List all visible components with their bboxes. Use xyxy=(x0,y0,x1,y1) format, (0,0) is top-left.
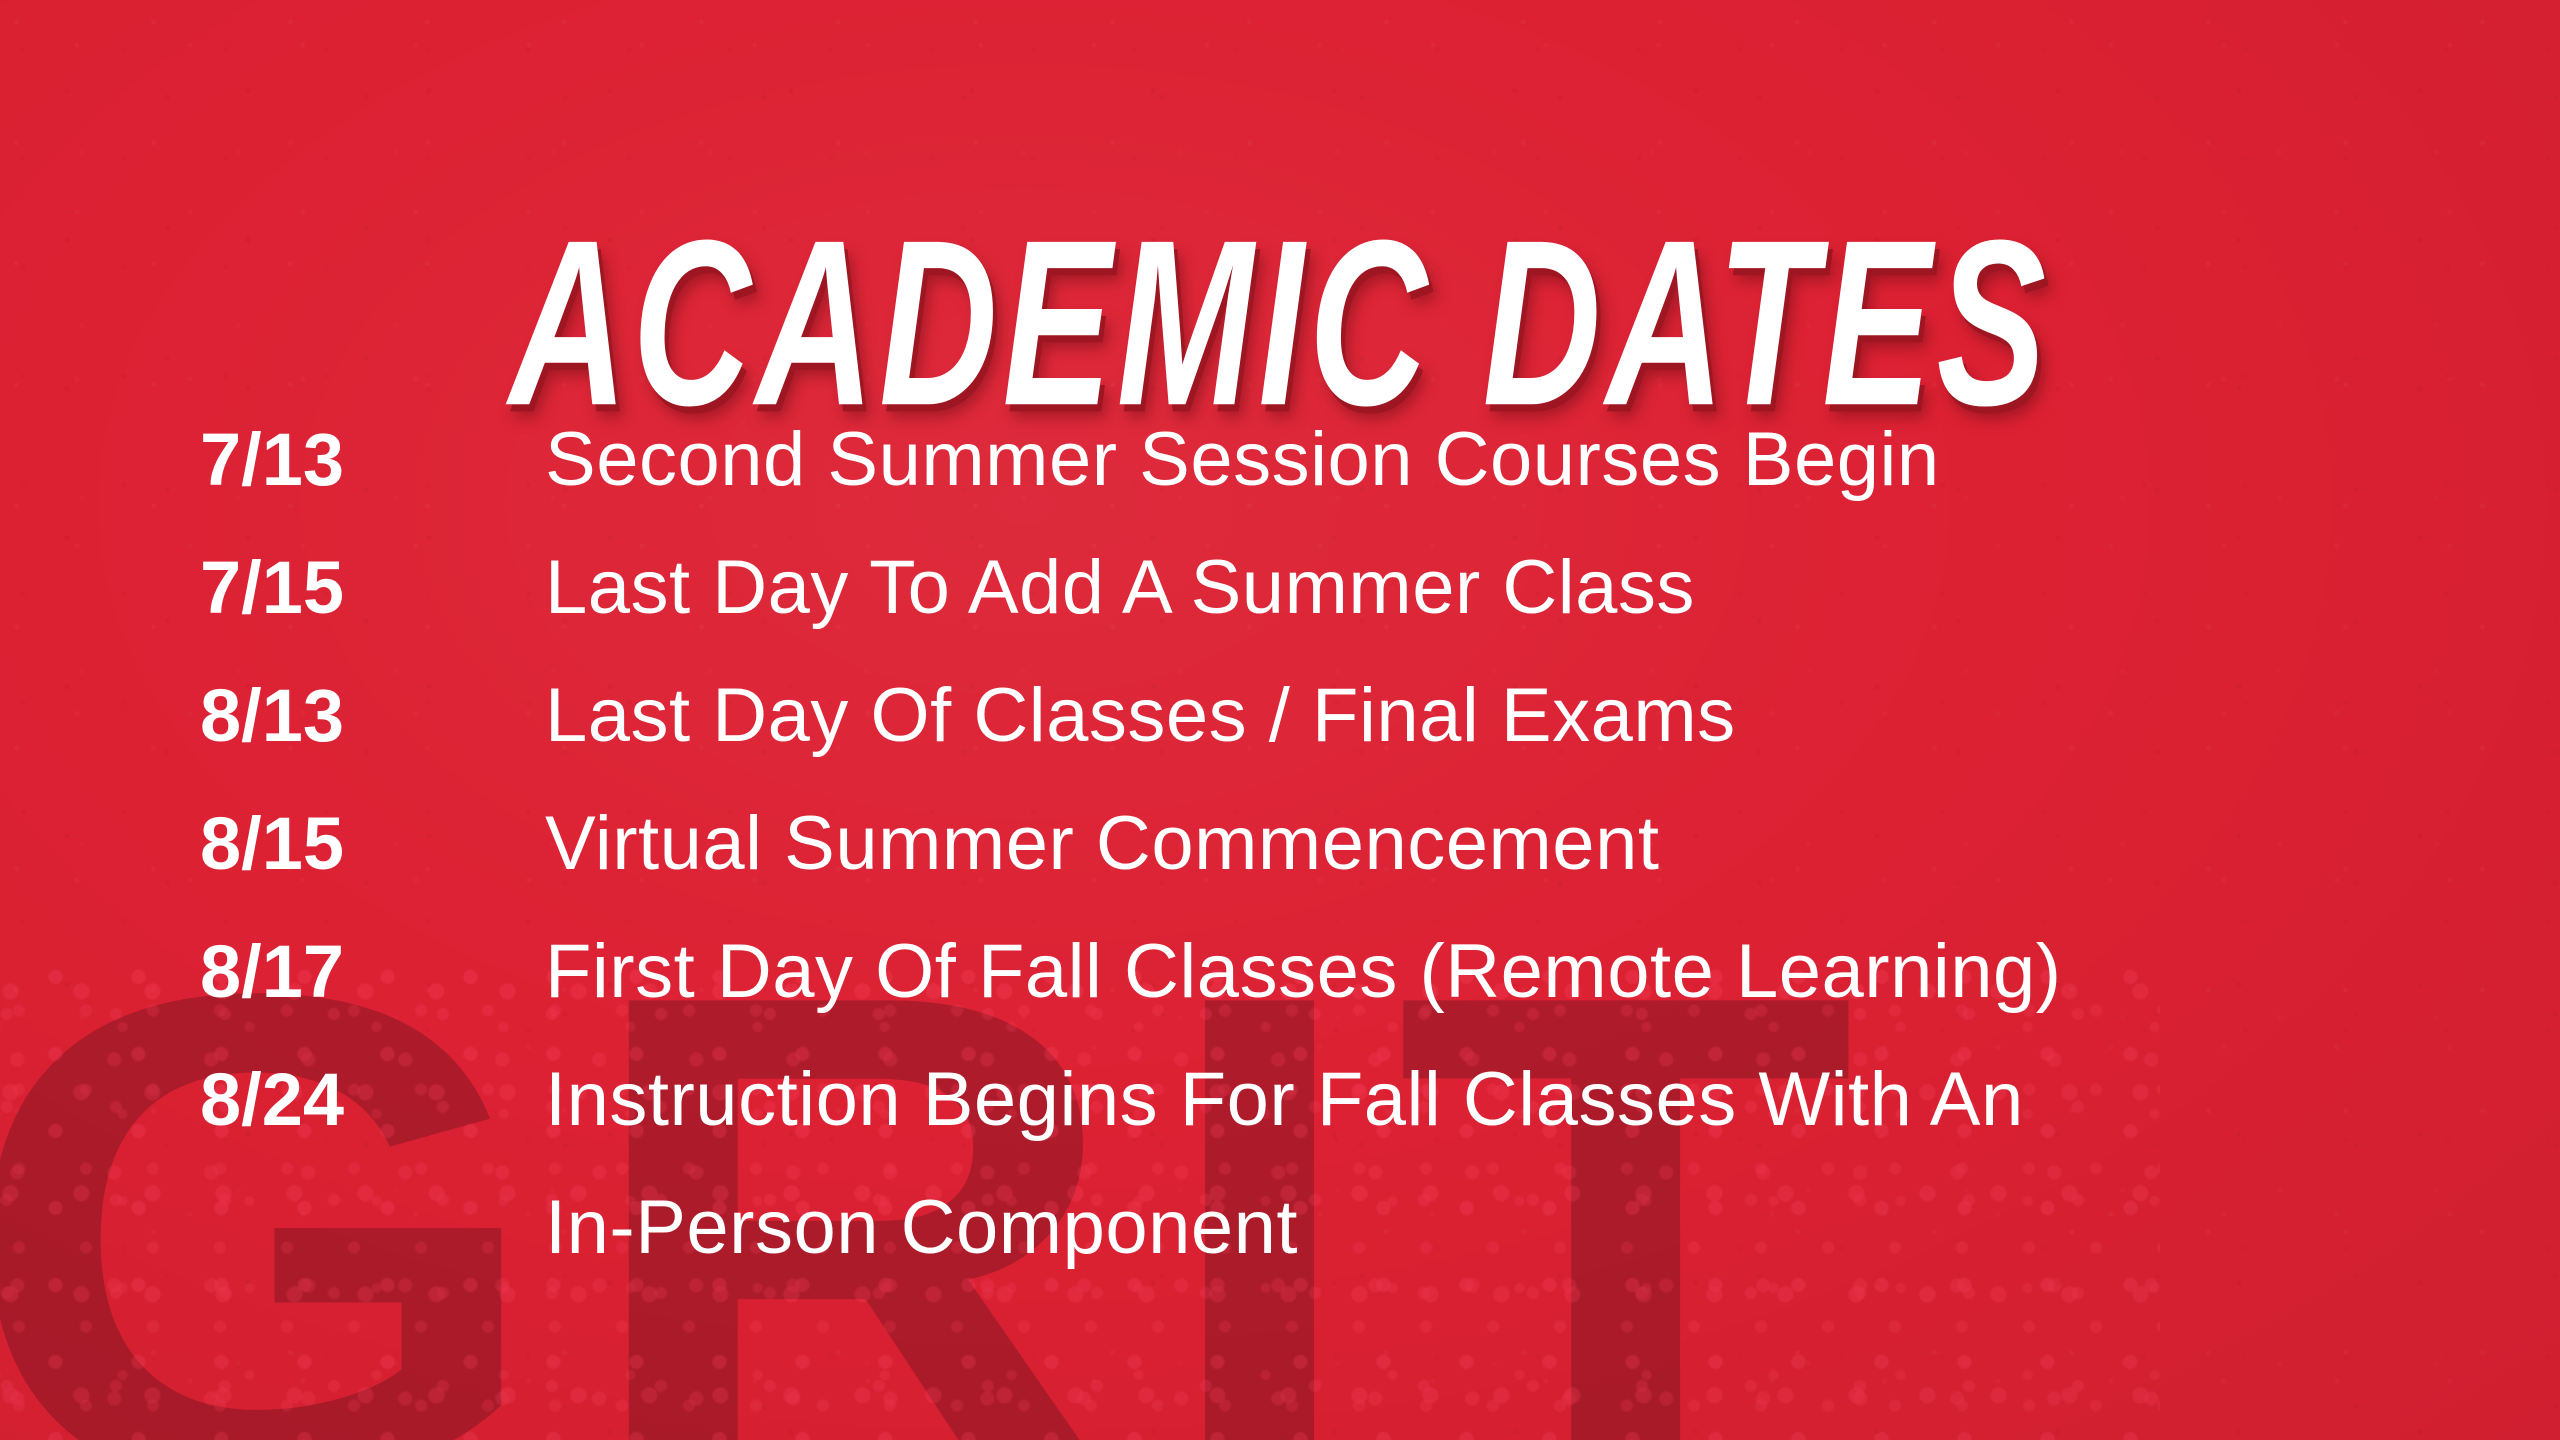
schedule-row-date: 8/13 xyxy=(200,652,545,780)
schedule-row-date: 8/24 xyxy=(200,1036,545,1164)
schedule-row-description: Virtual Summer Commencement xyxy=(545,780,2480,908)
schedule-row-description: Last Day Of Classes / Final Exams xyxy=(545,652,2480,780)
schedule-row-description: Instruction Begins For Fall Classes With… xyxy=(545,1036,2480,1292)
academic-dates-slide: GRIT ACADEMIC DATES 7/13Second Summer Se… xyxy=(0,0,2560,1440)
schedule-row: 8/15Virtual Summer Commencement xyxy=(200,780,2480,908)
schedule-row-description-line: Last Day To Add A Summer Class xyxy=(545,524,2480,652)
schedule-row-description-line: First Day Of Fall Classes (Remote Learni… xyxy=(545,908,2480,1036)
schedule-row-date: 8/17 xyxy=(200,908,545,1036)
schedule-row-description-line: Instruction Begins For Fall Classes With… xyxy=(545,1036,2480,1164)
schedule-row-description-line: Last Day Of Classes / Final Exams xyxy=(545,652,2480,780)
schedule-row-description-line: Virtual Summer Commencement xyxy=(545,780,2480,908)
schedule-row-description-line: Second Summer Session Courses Begin xyxy=(545,396,2480,524)
schedule-row-description: Second Summer Session Courses Begin xyxy=(545,396,2480,524)
schedule-row-date: 7/15 xyxy=(200,524,545,652)
schedule-row-description-line: In-Person Component xyxy=(545,1164,2480,1292)
schedule-row: 7/15Last Day To Add A Summer Class xyxy=(200,524,2480,652)
schedule-row: 8/13Last Day Of Classes / Final Exams xyxy=(200,652,2480,780)
schedule-row: 8/17First Day Of Fall Classes (Remote Le… xyxy=(200,908,2480,1036)
schedule-row-date: 7/13 xyxy=(200,396,545,524)
academic-dates-list: 7/13Second Summer Session Courses Begin7… xyxy=(200,396,2480,1292)
schedule-row-description: Last Day To Add A Summer Class xyxy=(545,524,2480,652)
schedule-row-description: First Day Of Fall Classes (Remote Learni… xyxy=(545,908,2480,1036)
schedule-row-date: 8/15 xyxy=(200,780,545,908)
schedule-row: 8/24Instruction Begins For Fall Classes … xyxy=(200,1036,2480,1292)
schedule-row: 7/13Second Summer Session Courses Begin xyxy=(200,396,2480,524)
